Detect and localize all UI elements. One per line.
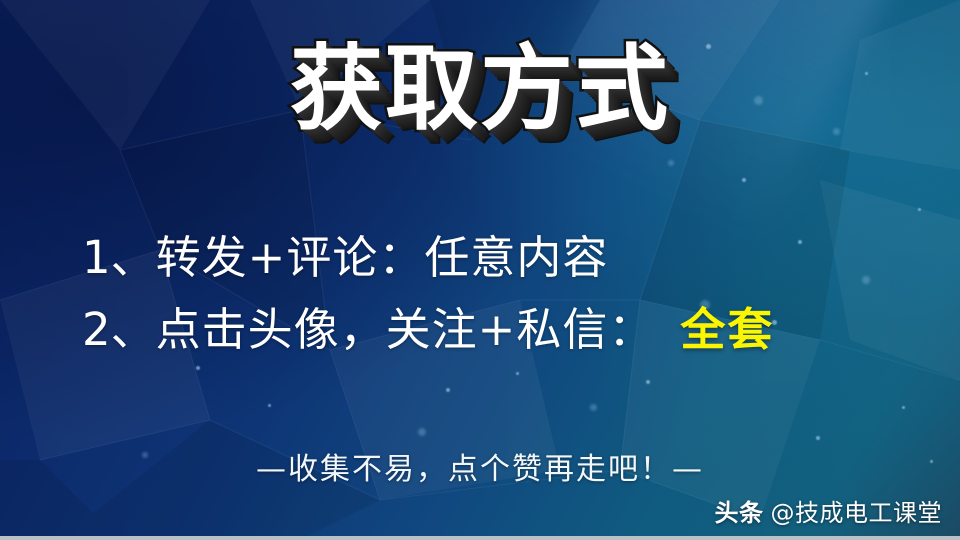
list-item: 2、点击头像，关注+私信：全套 [82,294,882,366]
watermark-handle: @技成电工课堂 [771,493,943,528]
page-title: 获取方式 [290,40,670,139]
watermark: 头条 @技成电工课堂 [715,493,943,528]
slide-canvas: 获取方式 1、转发+评论：任意内容 2、点击头像，关注+私信：全套 —收集不易，… [0,0,960,540]
bottom-strip [0,536,960,540]
step-text: 点击头像，关注+私信： [156,303,655,356]
step-number: 2、 [82,303,156,356]
step-number: 1、 [82,231,156,284]
watermark-brand: 头条 [715,493,764,528]
list-item: 1、转发+评论：任意内容 [82,222,882,294]
footer-note: —收集不易，点个赞再走吧！— [0,444,960,488]
step-text: 转发+评论：任意内容 [156,231,609,284]
page-title-wrapper: 获取方式 [0,40,960,139]
step-highlight: 全套 [680,303,774,356]
instruction-list: 1、转发+评论：任意内容 2、点击头像，关注+私信：全套 [82,222,882,366]
